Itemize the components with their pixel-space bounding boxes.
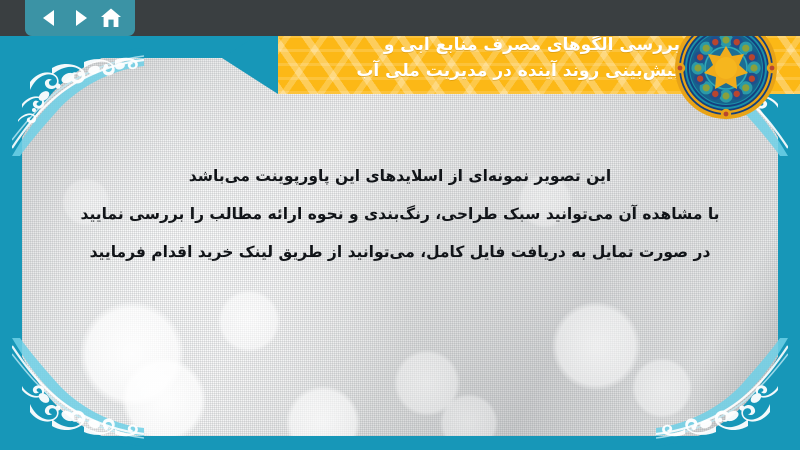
bokeh-circle — [80, 302, 184, 406]
triangle-right-icon — [69, 7, 91, 29]
home-button[interactable] — [98, 5, 124, 31]
triangle-left-icon — [38, 7, 60, 29]
page-title-line-2: پیش‌بینی روند آینده در مدیریت ملی آب — [356, 58, 680, 84]
bokeh-circle — [286, 386, 360, 436]
back-button[interactable] — [36, 5, 62, 31]
forward-button[interactable] — [67, 5, 93, 31]
bokeh-circle — [122, 358, 206, 436]
body-line-1: این تصویر نمونه‌ای از اسلایدهای این پاور… — [60, 158, 740, 196]
bokeh-circle — [394, 350, 460, 416]
navigation-bar — [0, 0, 800, 36]
bokeh-circle — [632, 358, 692, 418]
bokeh-circle — [440, 394, 498, 436]
bokeh-circle — [552, 302, 640, 390]
presentation-viewer: این تصویر نمونه‌ای از اسلایدهای این پاور… — [0, 0, 800, 450]
body-line-3: در صورت تمایل به دریافت فایل کامل، می‌تو… — [60, 234, 740, 272]
home-icon — [99, 6, 123, 30]
slide-body-text: این تصویر نمونه‌ای از اسلایدهای این پاور… — [60, 158, 740, 272]
navigation-button-group — [25, 0, 135, 36]
bokeh-circle — [218, 290, 280, 352]
body-line-2: با مشاهده آن می‌توانید سبک طراحی، رنگ‌بن… — [60, 196, 740, 234]
